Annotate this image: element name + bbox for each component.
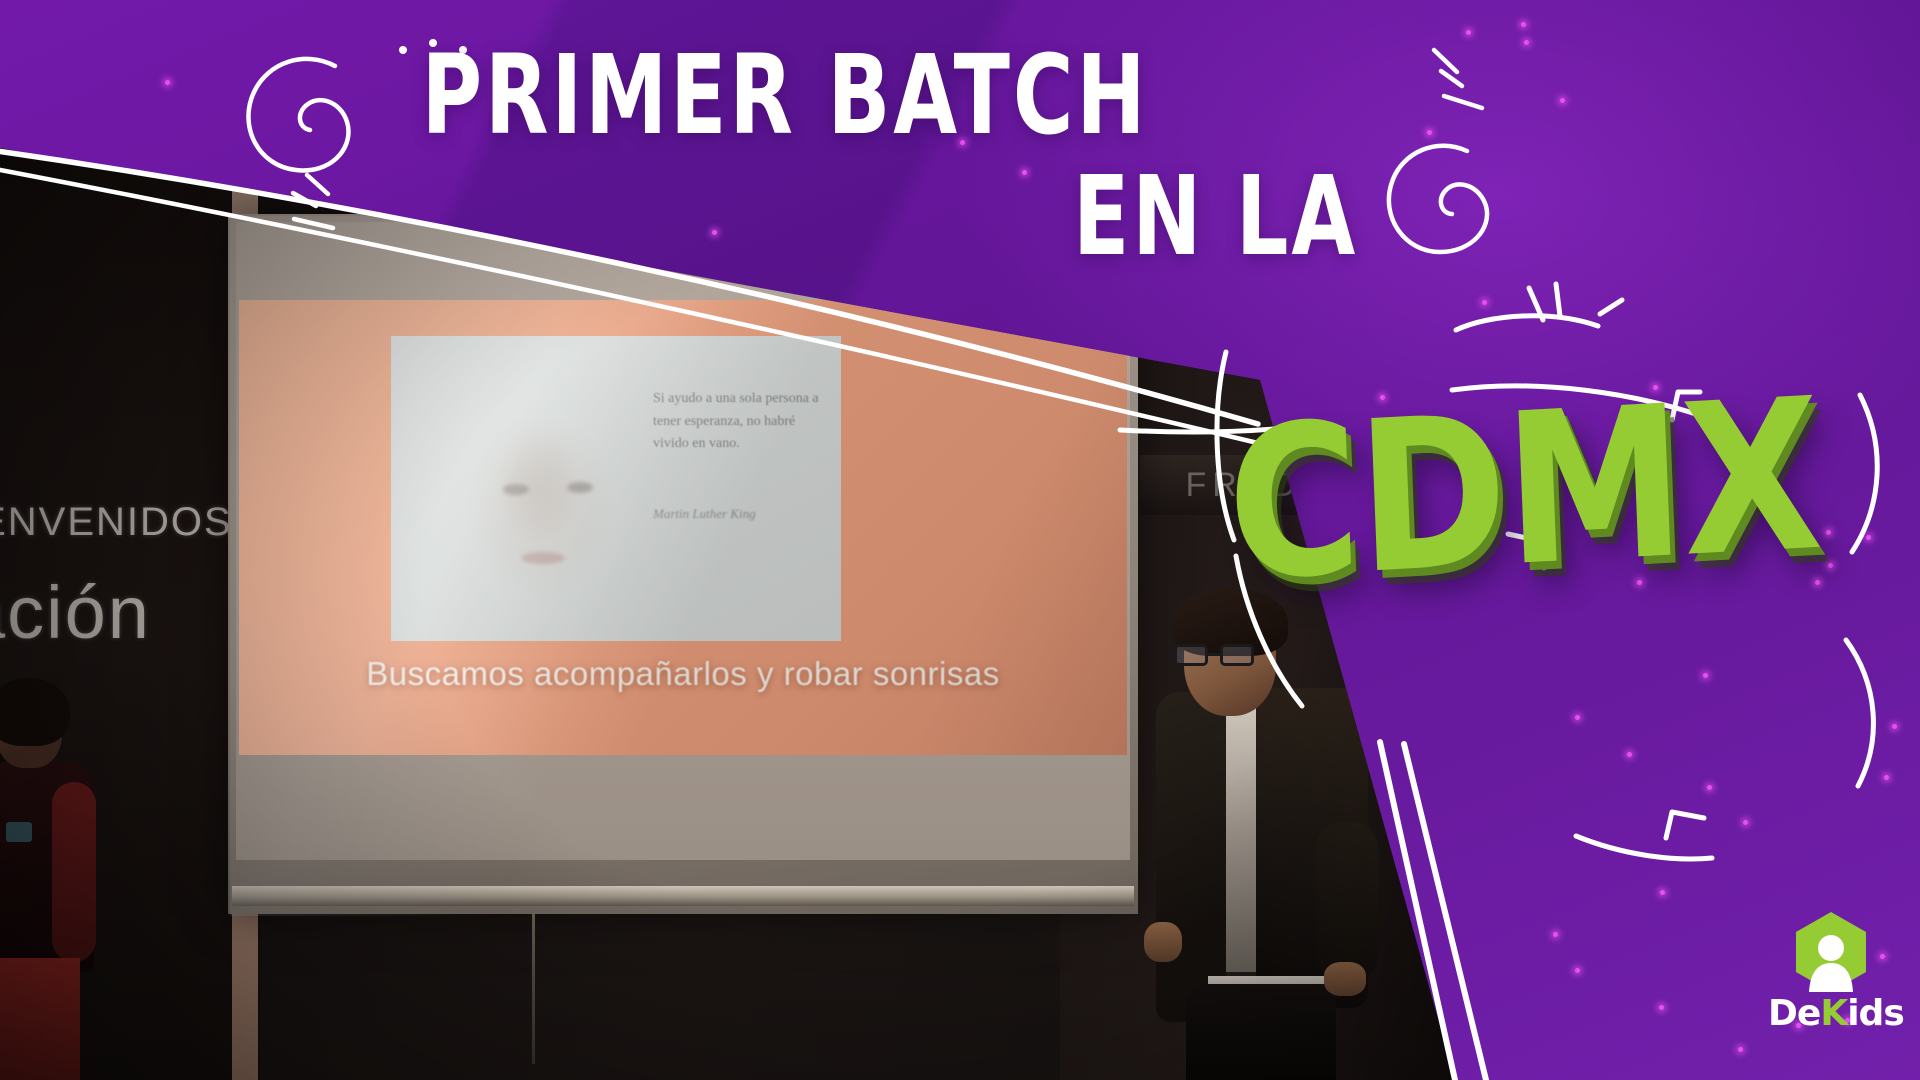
screen-bottom-bar [232,886,1134,906]
dekids-wordmark: DeKids [1768,996,1894,1032]
slide-quote: Si ayudo a una sola persona a tener espe… [653,388,825,456]
chalkboard-line-2: ación [0,570,151,655]
child-portrait [421,356,651,641]
person-girl-left [0,690,108,1080]
hexagon-person-icon [1792,910,1870,994]
eyeglasses [1174,644,1258,666]
thumbnail-canvas: FREDO IENVENIDOS ación Si ayudo a una so… [0,0,1920,1080]
presentation-slide: Si ayudo a una sola persona a tener espe… [239,300,1127,755]
title-highlight-cdmx: CDMX [1223,354,1823,627]
slide-quote-author: Martin Luther King [653,506,833,522]
chalkboard-line-1: IENVENIDOS [0,500,233,545]
slide-image: Si ayudo a una sola persona a tener espe… [391,336,841,641]
logo-text-k: K [1820,993,1847,1034]
slide-caption: Buscamos acompañarlos y robar sonrisas [239,652,1127,697]
logo-text-de: De [1768,993,1820,1034]
dekids-logo[interactable]: DeKids [1768,910,1894,1060]
logo-text-ids: ids [1847,993,1904,1034]
screen-cord [532,914,535,1064]
